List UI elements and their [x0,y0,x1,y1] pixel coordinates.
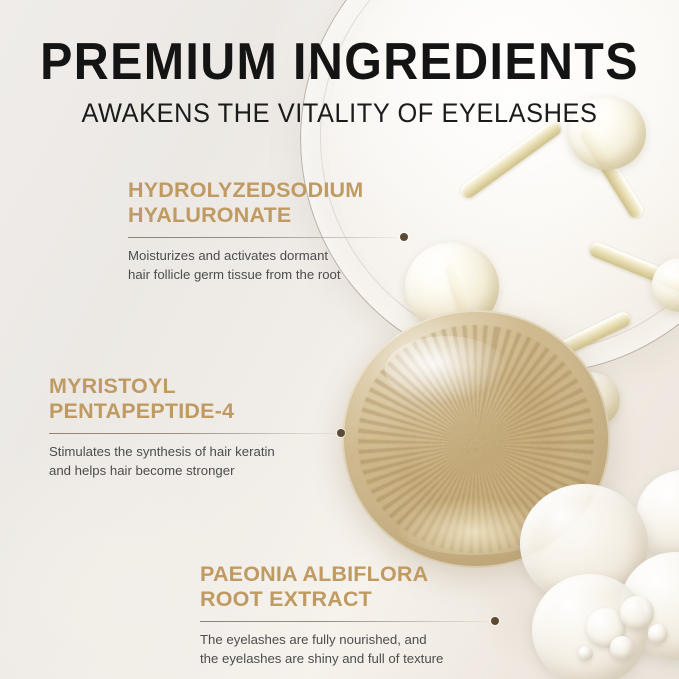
connector-dot-icon [400,233,408,241]
page-title: PREMIUM INGREDIENTS [24,36,655,88]
ingredient-name: MYRISTOYL PENTAPEPTIDE-4 [49,374,333,424]
poster-header: PREMIUM INGREDIENTS AWAKENS THE VITALITY… [0,36,679,127]
ingredient-name: PAEONIA ALBIFLORA ROOT EXTRACT [200,562,487,612]
ingredient-description: The eyelashes are fully nourished, and t… [200,631,487,668]
connector-dot-icon [491,617,499,625]
ingredient-divider [49,433,333,434]
page-subtitle: AWAKENS THE VITALITY OF EYELASHES [20,100,658,127]
ingredient-divider [128,237,396,238]
ingredients-poster: PREMIUM INGREDIENTS AWAKENS THE VITALITY… [0,0,679,679]
ingredient-divider [200,621,487,622]
ingredient-block: PAEONIA ALBIFLORA ROOT EXTRACT The eyela… [200,562,487,668]
ingredient-block: HYDROLYZEDSODIUM HYALURONATE Moisturizes… [128,178,396,284]
poster-content: PREMIUM INGREDIENTS AWAKENS THE VITALITY… [0,0,679,679]
ingredient-description: Moisturizes and activates dormant hair f… [128,247,396,284]
ingredient-description: Stimulates the synthesis of hair keratin… [49,443,333,480]
connector-dot-icon [337,429,345,437]
ingredient-block: MYRISTOYL PENTAPEPTIDE-4 Stimulates the … [49,374,333,480]
ingredient-name: HYDROLYZEDSODIUM HYALURONATE [128,178,396,228]
